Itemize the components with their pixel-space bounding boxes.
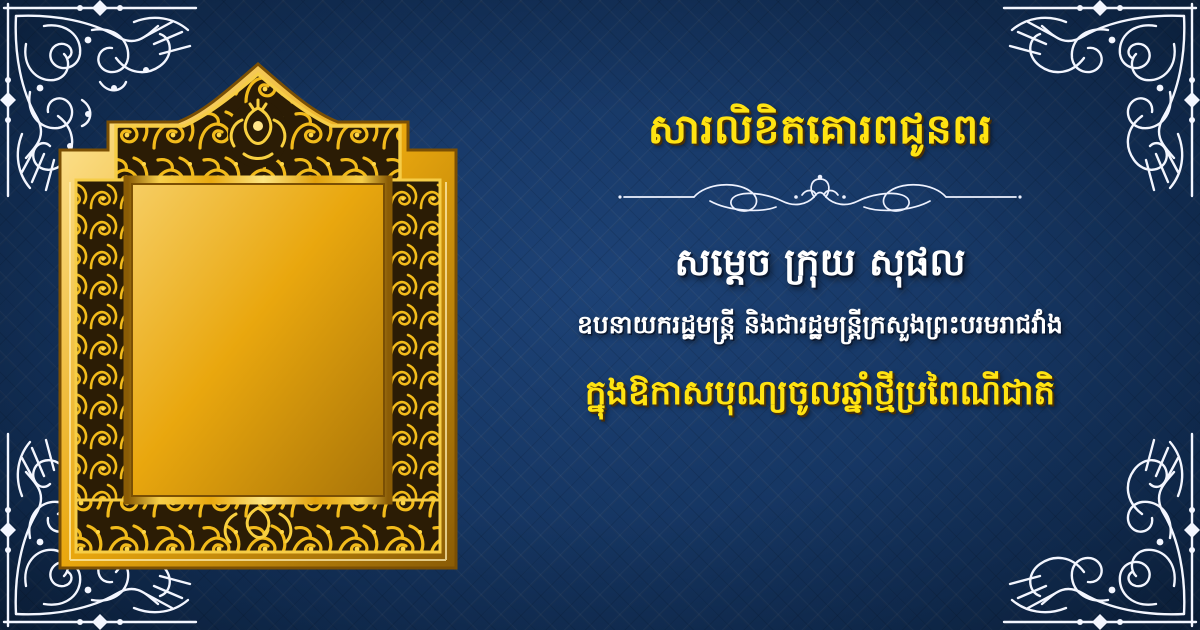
frame-bottom-band <box>76 500 440 552</box>
frame-crown-motif <box>228 100 288 168</box>
greeting-card: សារលិខិតគោរពជូនពរ <box>0 0 1200 630</box>
honoree-name: សម្តេច ក្រុយ សុផល <box>674 239 965 287</box>
portrait-frame <box>58 62 458 570</box>
occasion-text: ក្នុងឱកាសបុណ្យចូលឆ្នាំថ្មីប្រពៃណីជាតិ <box>585 372 1055 415</box>
honoree-position: ឧបនាយករដ្ឋមន្ត្រី និងជារដ្ឋមន្ត្រីក្រសួង… <box>577 309 1063 340</box>
flourish-divider-icon <box>610 171 1030 217</box>
page-title: សារលិខិតគោរពជូនពរ <box>648 104 992 155</box>
message-text-column: សារលិខិតគោរពជូនពរ <box>470 62 1170 570</box>
